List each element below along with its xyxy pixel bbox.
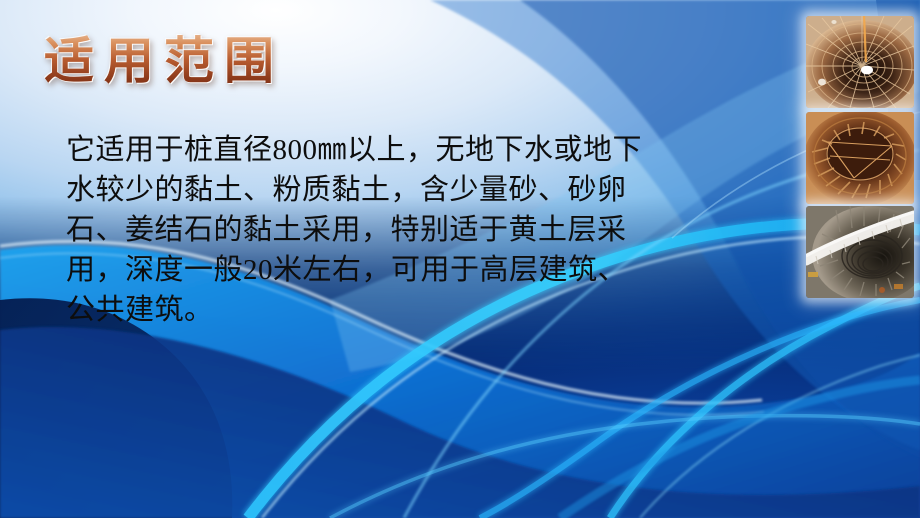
pile-shaft-hose-image [806,206,914,298]
rebar-cage-shaft-photo [806,16,914,108]
presentation-slide: 适用范围 它适用于桩直径800㎜以上，无地下水或地下 水较少的黏土、粉质黏土，含… [0,0,920,518]
rebar-cage-shaft-image [806,16,914,108]
slide-body-text: 它适用于桩直径800㎜以上，无地下水或地下 水较少的黏土、粉质黏土，含少量砂、砂… [66,130,786,330]
circular-excavation-photo [806,112,914,204]
body-line: 用，深度一般20米左右，可用于高层建筑、 [66,250,786,290]
circular-excavation-image [806,112,914,204]
body-line: 它适用于桩直径800㎜以上，无地下水或地下 [66,130,786,170]
body-line: 石、姜结石的黏土采用，特别适于黄土层采 [66,210,786,250]
body-line: 水较少的黏土、粉质黏土，含少量砂、砂卵 [66,170,786,210]
body-line: 公共建筑。 [66,290,786,330]
page-title: 适用范围 [44,33,284,91]
pile-shaft-hose-photo [806,206,914,298]
